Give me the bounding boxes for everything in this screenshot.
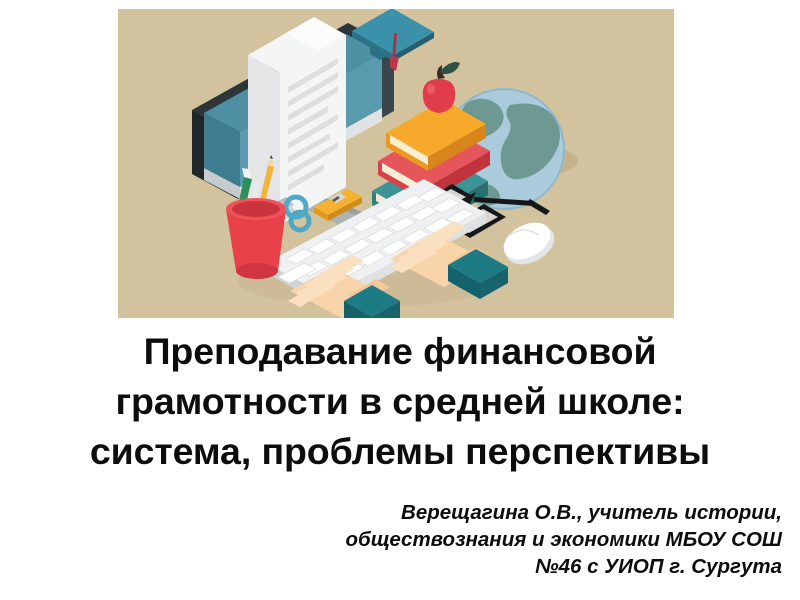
apple-body xyxy=(423,79,455,113)
author-line-2: обществознания и экономики МБОУ СОШ xyxy=(12,526,782,553)
slide-author-credit: Верещагина О.В., учитель истории, общест… xyxy=(12,499,782,580)
slide-title: Преподавание финансовой грамотности в ср… xyxy=(0,326,800,476)
title-line-2: грамотности в средней школе: xyxy=(0,376,800,426)
title-line-1: Преподавание финансовой xyxy=(0,326,800,376)
cup-inner xyxy=(232,201,280,217)
title-line-3: система, проблемы перспективы xyxy=(0,426,800,476)
cup-bottom xyxy=(236,263,278,279)
title-illustration-image xyxy=(118,9,674,318)
apple-highlight xyxy=(427,84,435,94)
author-line-3: №46 с УИОП г. Сургута xyxy=(12,553,782,580)
workspace-isometric-illustration xyxy=(118,9,674,318)
author-line-1: Верещагина О.В., учитель истории, xyxy=(12,499,782,526)
slide-canvas: Преподавание финансовой грамотности в ср… xyxy=(0,0,800,600)
